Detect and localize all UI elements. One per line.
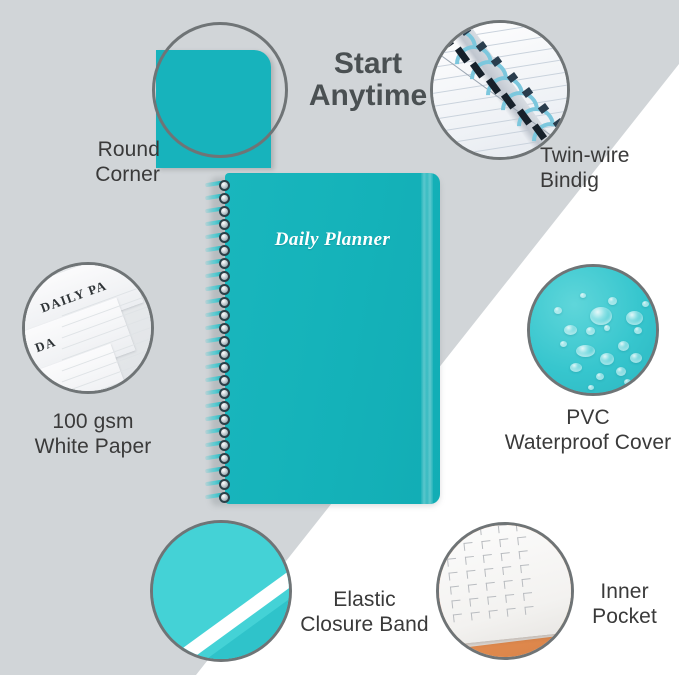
pocket-grid-mark [524,607,526,615]
headline-start-anytime: Start Anytime [298,48,438,113]
feature-label-twin-wire: Twin-wire Bindig [540,144,679,194]
pocket-grid-mark [471,612,473,620]
notebook-elastic-band [421,173,433,504]
pocket-grid-mark [483,555,485,563]
pocket-grid-mark [505,595,507,603]
pocket-grid-mark [444,530,453,532]
water-droplet [618,341,629,351]
spiral-coil [205,218,231,231]
pocket-grid-mark [465,557,467,565]
pocket-grid-mark [486,583,488,591]
spiral-coil [205,387,231,400]
pocket-grid-mark [486,582,495,584]
feature-label-pvc: PVC Waterproof Cover [497,406,679,456]
pocket-grid-mark [504,580,513,582]
pocket-grid-mark [520,564,529,566]
pocket-grid-mark [522,578,531,580]
pocket-grid-mark [517,536,526,538]
water-droplet [576,345,595,357]
spiral-coil [205,257,231,270]
spiral-coil [205,244,231,257]
pocket-grid-mark [499,539,501,547]
spiral-coil [205,452,231,465]
product-feature-infographic: Daily Planner Round Corner Start Anytime… [0,0,679,675]
pocket-grid-mark [516,523,518,531]
pocket-grid-mark [483,554,492,556]
pocket-grid-mark [447,559,449,567]
pocket-grid-mark [453,614,462,616]
water-droplet [630,353,642,363]
pocket-grid-mark [507,608,516,610]
pocket-grid-mark [444,531,446,539]
pocket-grid-mark [498,524,507,526]
water-droplet [570,363,582,372]
water-droplet [554,307,562,314]
pocket-grid-mark [523,593,525,601]
spiral-coil [205,283,231,296]
pocket-grid-mark [471,612,480,614]
spiral-coil [205,413,231,426]
pocket-grid-mark [469,599,471,607]
spiral-coil [205,231,231,244]
pocket-grid-mark [469,598,478,600]
feature-label-paper: 100 gsm White Paper [8,410,178,460]
water-droplet [590,307,612,325]
notebook-cover-title: Daily Planner [225,229,440,251]
pocket-grid-mark [519,551,521,559]
pocket-grid-mark [484,568,493,570]
notebook-cover: Daily Planner [225,173,440,504]
water-droplet [604,325,610,331]
water-droplet [624,379,631,385]
spiral-coil [205,179,231,192]
round-corner-circle [152,22,288,158]
water-droplet [600,353,614,365]
water-droplet [596,373,604,380]
pocket-grid-mark [507,609,509,617]
twin-wire-circle [430,20,570,160]
spiral-coil [205,374,231,387]
pocket-grid-mark [489,611,491,619]
spiral-coil [205,322,231,335]
feature-label-elastic: Elastic Closure Band [282,588,447,638]
water-droplet [608,297,617,305]
spiral-coil [205,270,231,283]
water-droplet [560,341,567,347]
spiral-coil [205,348,231,361]
feature-label-round-corner: Round Corner [30,138,160,188]
pocket-grid-mark [450,587,452,595]
pocket-grid-mark [446,544,455,546]
paper-circle: DAILY PA Top Priorities DA Top Pr DA Top… [22,262,154,394]
pocket-grid-mark [524,606,533,608]
pocket-grid-mark [453,614,455,622]
pvc-circle [527,264,659,396]
water-droplet [634,327,642,334]
pocket-grid-mark [451,600,453,608]
water-droplet [616,367,626,376]
pocket-grid-mark [522,579,524,587]
pocket-grid-mark [520,565,522,573]
pocket-grid-mark [451,600,460,602]
notebook-spiral-binding [205,173,231,504]
water-droplet [588,385,594,390]
spiral-coil [205,491,231,504]
elastic-circle [150,520,292,662]
spiral-coil [205,296,231,309]
spiral-coil [205,309,231,322]
pocket-grid-mark [498,525,500,533]
spiral-coil [205,361,231,374]
pocket-grid-mark [481,540,490,542]
spiral-coil [205,426,231,439]
pocket-grid-mark [481,541,483,549]
pocket-grid-mark [447,558,456,560]
pocket-grid-mark [504,581,506,589]
pocket-grid-mark [501,552,510,554]
pocket-grid-mark [463,542,472,544]
water-droplet [564,325,577,335]
pocket-grid-mark [502,566,511,568]
pocket-grid-mark [448,572,457,574]
water-droplet [586,327,595,335]
pocket-grid-mark [505,594,514,596]
pocket-grid-mark [463,543,465,551]
spiral-coil [205,478,231,491]
pocket-grid-mark [499,538,508,540]
pocket-grid-mark [502,567,504,575]
water-droplet [642,301,649,307]
pocket-circle [436,522,574,660]
spiral-coil [205,335,231,348]
pocket-grid-mark [480,527,482,535]
pocket-grid-mark [480,526,489,528]
pocket-grid-mark [465,556,474,558]
pocket-grid-mark [519,550,528,552]
spiral-coil [205,400,231,413]
feature-label-pocket: Inner Pocket [570,580,679,630]
pocket-grid-mark [466,571,468,579]
spiral-coil [205,192,231,205]
pocket-grid-mark [446,545,448,553]
pocket-grid-mark [484,569,486,577]
notebook-product-image: Daily Planner [205,173,440,506]
pocket-grid-mark [487,597,489,605]
pocket-grid-mark [487,596,496,598]
pocket-grid-mark [468,584,477,586]
spiral-coil [205,205,231,218]
pocket-grid-mark [462,528,471,530]
pocket-grid-mark [450,586,459,588]
water-droplet [580,293,586,298]
pocket-grid-mark [523,592,532,594]
pocket-grid-mark [468,585,470,593]
pocket-grid-mark [448,573,450,581]
pocket-grid-mark [501,553,503,561]
pocket-page [436,522,574,646]
spiral-coil [205,439,231,452]
water-droplet [626,311,643,325]
pocket-grid-mark [489,610,498,612]
pocket-grid-mark [466,570,475,572]
spiral-coil [205,465,231,478]
pocket-grid-mark [517,537,519,545]
pocket-grid-mark [462,529,464,537]
